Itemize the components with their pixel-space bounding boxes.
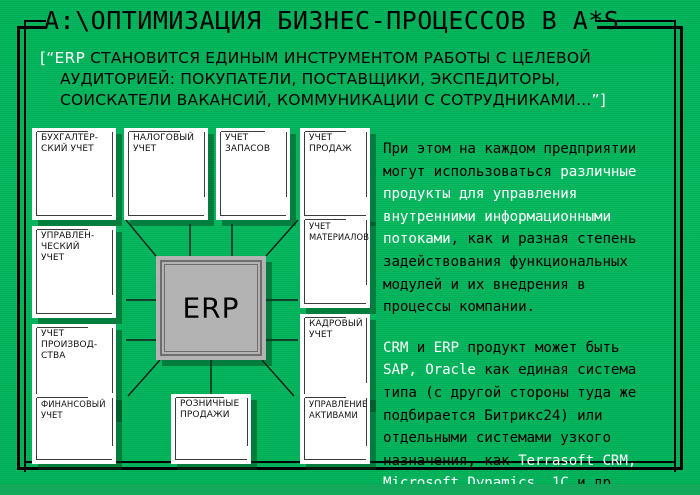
bottom-band [0,484,700,494]
node-roznichnye[interactable]: РОЗНИЧНЫЕ ПРОДАЖИ [171,394,251,464]
frame-left-inner-line [24,20,26,472]
frame-left-line [17,26,20,470]
paragraph-2-line-6: назначения, как Terrasoft CRM, [383,450,683,473]
paragraph-2-line-3-seg-1: типа (с другой стороны туда же [383,385,636,401]
paragraph-2-line-1-seg-1: CRM [383,340,408,356]
paragraph-1-line-8: процессы компании. [383,296,683,319]
node-buhgalterskiy[interactable]: БУХГАЛТЕР- СКИЙ УЧЕТ [32,128,116,220]
paragraph-1-line-4-seg-1: внутренними информационными [383,209,611,225]
paragraph-2: CRM и ERP продукт может бытьSAP, Oracle … [383,337,683,495]
quote-line-2: АУДИТОРИЕЙ: ПОКУПАТЕЛИ, ПОСТАВЩИКИ, ЭКСП… [40,69,650,90]
node-label: УЧЕТ ПРОИЗВОД- СТВА [41,329,111,362]
node-label: БУХГАЛТЕР- СКИЙ УЧЕТ [41,133,111,155]
paragraph-1-line-7: модулей и их внедрения в [383,274,683,297]
paragraph-2-line-1-seg-3: ERP [434,340,459,356]
quote-close-bracket: ”] [592,91,606,109]
paragraph-2-line-1: CRM и ERP продукт может быть [383,337,683,360]
node-label: НАЛОГОВЫЙ УЧЕТ [133,133,203,155]
body-text-column: При этом на каждом предприятиимогут испо… [383,138,683,495]
node-label: РОЗНИЧНЫЕ ПРОДАЖИ [180,399,246,421]
paragraph-2-line-5-seg-1: отдельными системами узкого [383,430,611,446]
node-label: УЧЕТ ПРОДАЖ [309,133,365,155]
paragraph-1-line-4: внутренними информационными [383,206,683,229]
node-finansovyy[interactable]: ФИНАНСОВЫЙ УЧЕТ [32,394,116,464]
quote-block: [“ERP СТАНОВИТСЯ ЕДИНЫМ ИНСТРУМЕНТОМ РАБ… [40,48,650,111]
paragraph-2-line-6-seg-2: Terrasoft CRM, [518,453,636,469]
paragraph-2-line-2-seg-2: как единая система [476,362,636,378]
paragraph-1-line-2-seg-1: могут использоваться [383,164,560,180]
paragraph-1-line-3-seg-1: продукты для управления [383,186,577,202]
paragraph-2-line-1-seg-2: и [408,340,433,356]
node-label: УЧЕТ ЗАПАСОВ [225,133,285,155]
erp-center-block[interactable]: ERP [156,256,266,360]
node-materialov[interactable]: УЧЕТ МАТЕРИАЛОВ [300,216,370,308]
paragraph-1-line-3: продукты для управления [383,183,683,206]
paragraph-1-line-2: могут использоваться различные [383,161,683,184]
paragraph-2-line-4-seg-1: подбирается Битрикс24) или [383,408,602,424]
node-label: УПРАВЛЕН- ЧЕСКИЙ УЧЕТ [41,231,111,264]
paragraph-1-line-1-seg-1: При этом на каждом предприятии [383,141,636,157]
node-label: УЧЕТ МАТЕРИАЛОВ [309,221,365,243]
node-zapasov[interactable]: УЧЕТ ЗАПАСОВ [216,128,290,220]
node-upravlencheskiy[interactable]: УПРАВЛЕН- ЧЕСКИЙ УЧЕТ [32,226,116,318]
paragraph-2-line-6-seg-1: назначения, как [383,453,518,469]
quote-open-bracket: [“ [40,49,54,67]
node-kadrovyy[interactable]: КАДРОВЫЙ УЧЕТ [300,314,370,406]
quote-line-3: СОИСКАТЕЛИ ВАКАНСИЙ, КОММУНИКАЦИИ С СОТР… [40,90,650,111]
erp-label: ERP [156,292,266,325]
quote-text-1: СТАНОВИТСЯ ЕДИНЫМ ИНСТРУМЕНТОМ РАБОТЫ С … [85,49,591,67]
node-aktivami[interactable]: УПРАВЛЕНИЕ АКТИВАМИ [300,394,370,464]
node-nalogovyy[interactable]: НАЛОГОВЫЙ УЧЕТ [124,128,208,220]
paragraph-1-line-6: задействования функциональных [383,251,683,274]
paragraph-1-line-2-seg-2: различные [560,164,636,180]
frame-top-left-inner-line [24,20,46,22]
quote-highlight-erp: ERP [54,49,85,67]
quote-text-3: СОИСКАТЕЛИ ВАКАНСИЙ, КОММУНИКАЦИИ С СОТР… [60,91,592,109]
paragraph-2-line-2-seg-1: SAP, Oracle [383,362,476,378]
paragraph-1-line-5: потоками, как и разная степень [383,228,683,251]
paragraph-1-line-8-seg-1: процессы компании. [383,299,535,315]
paragraph-spacer [383,319,683,337]
quote-line-1: [“ERP СТАНОВИТСЯ ЕДИНЫМ ИНСТРУМЕНТОМ РАБ… [40,48,650,69]
paragraph-1-line-1: При этом на каждом предприятии [383,138,683,161]
paragraph-2-line-5: отдельными системами узкого [383,427,683,450]
page-title: A:\ОПТИМИЗАЦИЯ БИЗНЕС-ПРОЦЕССОВ В A*S [44,6,619,35]
node-label: КАДРОВЫЙ УЧЕТ [309,319,365,341]
paragraph-1-line-7-seg-1: модулей и их внедрения в [383,277,586,293]
paragraph-1-line-5-seg-1: потоками [383,231,451,247]
node-prodazh[interactable]: УЧЕТ ПРОДАЖ [300,128,370,220]
slide-canvas: A:\ОПТИМИЗАЦИЯ БИЗНЕС-ПРОЦЕССОВ В A*S [“… [0,0,700,494]
paragraph-1-line-5-seg-2: , как и разная степень [451,231,637,247]
frame-top-left-line [17,26,45,29]
node-label: УПРАВЛЕНИЕ АКТИВАМИ [309,399,365,421]
node-label: ФИНАНСОВЫЙ УЧЕТ [41,399,111,421]
paragraph-2-line-4: подбирается Битрикс24) или [383,405,683,428]
paragraph-1: При этом на каждом предприятиимогут испо… [383,138,683,319]
paragraph-2-line-2: SAP, Oracle как единая система [383,359,683,382]
paragraph-2-line-3: типа (с другой стороны туда же [383,382,683,405]
paragraph-1-line-6-seg-1: задействования функциональных [383,254,628,270]
paragraph-2-line-1-seg-4: продукт может быть [459,340,619,356]
erp-diagram: БУХГАЛТЕР- СКИЙ УЧЕТ НАЛОГОВЫЙ УЧЕТ УЧЕТ… [28,128,376,464]
